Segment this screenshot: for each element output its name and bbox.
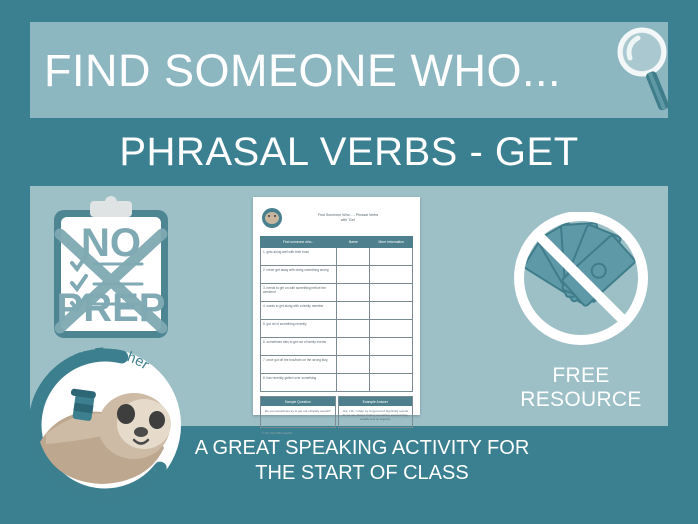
row-info-cell[interactable]: [370, 302, 413, 320]
example-answer-header: Example Answer: [339, 397, 413, 406]
table-row: 3. needs to get on with something before…: [261, 284, 413, 302]
row-prompt: 4. wants to get along with a family memb…: [261, 302, 337, 320]
free-resource-block: FREE RESOURCE: [494, 212, 668, 402]
clipboard-crossed-out-icon: NO PREP: [44, 196, 178, 344]
row-prompt: 2. never get away with doing something w…: [261, 266, 337, 284]
worksheet-examples: Sample Question Do you sometimes try to …: [260, 396, 413, 428]
example-answer-body: Yes, I do. I often try to get out of big…: [339, 406, 413, 427]
row-info-cell[interactable]: [370, 374, 413, 392]
row-prompt: 1. gets along well with their boss: [261, 248, 337, 266]
no-money-icon: [501, 212, 661, 364]
sample-question-header: Sample Question: [261, 397, 335, 406]
row-name-cell[interactable]: [337, 356, 370, 374]
worksheet-title-line2: with 'Get': [287, 218, 409, 223]
example-answer-box: Example Answer Yes, I do. I often try to…: [338, 396, 414, 428]
sample-question-box: Sample Question Do you sometimes try to …: [260, 396, 336, 428]
row-prompt: 8. has recently gotten over something: [261, 374, 337, 392]
row-info-cell[interactable]: [370, 266, 413, 284]
row-name-cell[interactable]: [337, 284, 370, 302]
column-header-prompt: Find someone who...: [261, 237, 337, 248]
row-info-cell[interactable]: [370, 320, 413, 338]
row-info-cell[interactable]: [370, 248, 413, 266]
column-header-name: Name: [337, 237, 370, 248]
free-resource-label: FREE RESOURCE: [494, 364, 668, 412]
worksheet-table: Find someone who... Name More informatio…: [260, 236, 413, 392]
poster-canvas: FIND SOMEONE WHO... PHRASAL VERBS - GET …: [0, 0, 698, 524]
row-name-cell[interactable]: [337, 248, 370, 266]
row-name-cell[interactable]: [337, 320, 370, 338]
worksheet-header: Find Someone Who... - Phrasal Verbs with…: [262, 205, 413, 231]
row-prompt: 3. needs to get on with something before…: [261, 284, 337, 302]
table-row: 4. wants to get along with a family memb…: [261, 302, 413, 320]
row-prompt: 7. once got off the bus/train on the wro…: [261, 356, 337, 374]
tagline: A GREAT SPEAKING ACTIVITY FOR THE START …: [186, 436, 538, 486]
table-row: 7. once got off the bus/train on the wro…: [261, 356, 413, 374]
sloth-avatar-icon: [262, 208, 282, 228]
worksheet-title: Find Someone Who... - Phrasal Verbs with…: [287, 213, 413, 224]
row-info-cell[interactable]: [370, 338, 413, 356]
headline-row: FIND SOMEONE WHO...: [30, 22, 668, 118]
table-row: 5. got rid of something recently: [261, 320, 413, 338]
page-title: FIND SOMEONE WHO...: [44, 48, 561, 93]
row-info-cell[interactable]: [370, 284, 413, 302]
row-prompt: 6. sometimes tries to get out of family …: [261, 338, 337, 356]
table-body: 1. gets along well with their boss 2. ne…: [261, 248, 413, 392]
row-prompt: 5. got rid of something recently: [261, 320, 337, 338]
sample-question-body: Do you sometimes try to get out of famil…: [261, 406, 335, 418]
row-name-cell[interactable]: [337, 338, 370, 356]
table-row: 8. has recently gotten over something: [261, 374, 413, 392]
worksheet-footer: © The Tired TEFL Teacher: [262, 432, 413, 435]
page-subtitle: PHRASAL VERBS - GET: [119, 130, 578, 175]
row-name-cell[interactable]: [337, 266, 370, 284]
worksheet-preview[interactable]: Find Someone Who... - Phrasal Verbs with…: [253, 197, 420, 415]
table-header-row: Find someone who... Name More informatio…: [261, 237, 413, 248]
table-row: 1. gets along well with their boss: [261, 248, 413, 266]
subheadline-row: PHRASAL VERBS - GET: [0, 120, 698, 184]
row-name-cell[interactable]: [337, 374, 370, 392]
row-name-cell[interactable]: [337, 302, 370, 320]
column-header-info: More information: [370, 237, 413, 248]
table-row: 2. never get away with doing something w…: [261, 266, 413, 284]
sloth-logo-badge: The Tired TEFL Teacher: [22, 342, 188, 508]
magnifier-icon: [612, 24, 682, 116]
row-info-cell[interactable]: [370, 356, 413, 374]
worksheet-title-line1: Find Someone Who... - Phrasal Verbs: [318, 213, 378, 217]
table-row: 6. sometimes tries to get out of family …: [261, 338, 413, 356]
